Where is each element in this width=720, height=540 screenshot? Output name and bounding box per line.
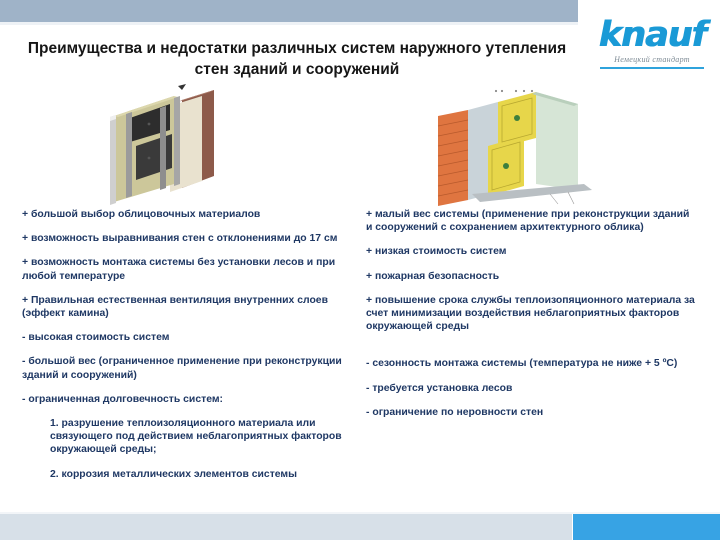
ventilated-facade-column: + большой выбор облицовочных материалов+…	[22, 208, 352, 492]
wet-facade-cutaway-image	[432, 88, 600, 208]
bullet-item: + повышение срока службы теплоизопяционн…	[366, 294, 696, 334]
bullet-item: - требуется установка лесов	[366, 382, 696, 395]
knauf-tagline: Немецкий стандарт	[592, 55, 712, 64]
bullet-item: - большой вес (ограниченное применение п…	[22, 355, 352, 381]
slide-title: Преимущества и недостатки различных сист…	[14, 38, 580, 80]
bullet-item: + низкая стоимость систем	[366, 245, 696, 258]
bottom-decorative-band-left	[0, 514, 572, 540]
bullet-item: - ограничение по неровности стен	[366, 406, 696, 419]
bullet-item: + возможность монтажа системы без устано…	[22, 256, 352, 282]
bullet-item: - ограниченная долговечность систем:	[22, 393, 352, 406]
bullet-item: 2. коррозия металлических элементов сист…	[22, 468, 352, 481]
knauf-underline	[600, 67, 704, 69]
knauf-wordmark: knauf	[592, 16, 712, 54]
bullet-item: + малый вес системы (применение при реко…	[366, 208, 696, 234]
bottom-decorative-band-right	[573, 514, 720, 540]
top-hairline	[0, 22, 578, 25]
knauf-logo: knauf Немецкий стандарт	[592, 16, 712, 80]
presentation-slide: knauf Немецкий стандарт Преимущества и н…	[0, 0, 720, 540]
wet-facade-column: + малый вес системы (применение при реко…	[366, 208, 696, 430]
bullet-item: + возможность выравнивания стен с отклон…	[22, 232, 352, 245]
bullet-item: + пожарная безопасность	[366, 270, 696, 283]
bullet-item: - высокая стоимость систем	[22, 331, 352, 344]
bullet-item: + большой выбор облицовочных материалов	[22, 208, 352, 221]
top-decorative-band	[0, 0, 578, 22]
bullet-item: 1. разрушение теплоизоляционного материа…	[22, 417, 352, 457]
bullet-item: + Правильная естественная вентиляция вну…	[22, 294, 352, 320]
ventilated-facade-cutaway-image	[74, 84, 244, 206]
bullet-item: - сезонность монтажа системы (температур…	[366, 357, 696, 370]
